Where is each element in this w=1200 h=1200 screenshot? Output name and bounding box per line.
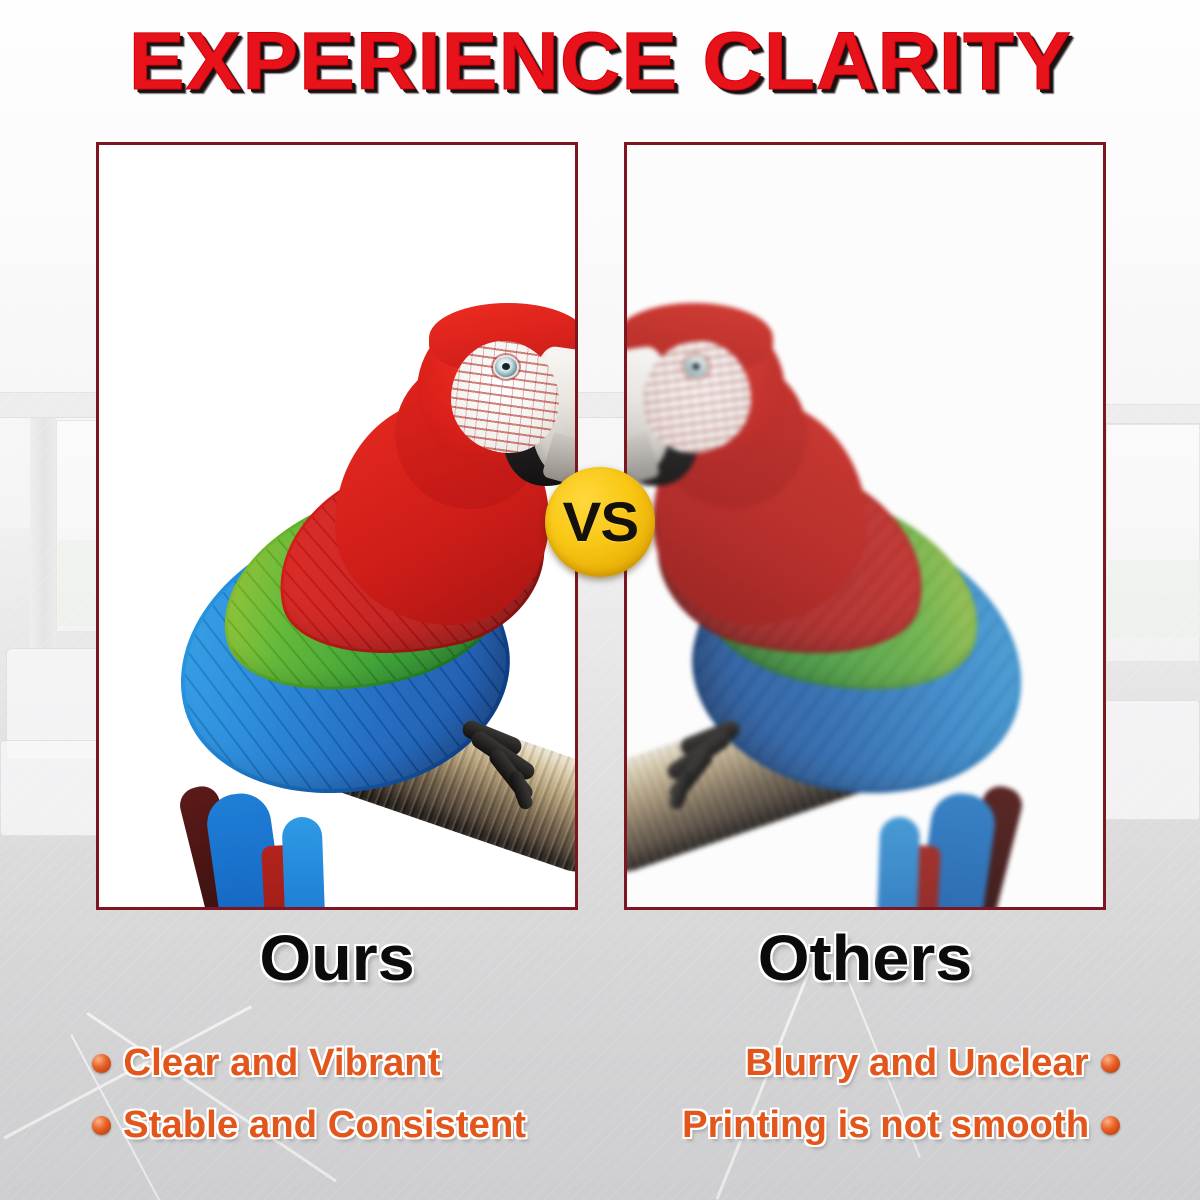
list-item: Clear and Vibrant bbox=[92, 1032, 592, 1094]
macaw-foot bbox=[655, 727, 745, 813]
list-item-label: Blurry and Unclear bbox=[745, 1041, 1088, 1085]
versus-badge: VS bbox=[545, 467, 655, 577]
benefit-list-ours: Clear and Vibrant Stable and Consistent bbox=[92, 1032, 592, 1156]
macaw-tail-blue-two bbox=[874, 816, 921, 910]
bullet-dot-icon bbox=[92, 1116, 111, 1135]
panel-caption-others: Others bbox=[614, 924, 1115, 992]
list-item: Stable and Consistent bbox=[92, 1094, 592, 1156]
list-item: Blurry and Unclear bbox=[620, 1032, 1120, 1094]
comparison-panel-others bbox=[624, 142, 1106, 910]
list-item: Printing is not smooth bbox=[620, 1094, 1120, 1156]
bullet-dot-icon bbox=[92, 1054, 111, 1073]
panel-caption-ours: Ours bbox=[86, 924, 587, 992]
bullet-dot-icon bbox=[1101, 1054, 1120, 1073]
macaw-eye bbox=[495, 357, 517, 377]
bullet-dot-icon bbox=[1101, 1116, 1120, 1135]
list-item-label: Stable and Consistent bbox=[123, 1103, 526, 1147]
macaw-eye bbox=[685, 357, 707, 377]
macaw-foot bbox=[457, 727, 547, 813]
comparison-panel-ours bbox=[96, 142, 578, 910]
drawback-list-others: Blurry and Unclear Printing is not smoot… bbox=[620, 1032, 1120, 1156]
list-item-label: Printing is not smooth bbox=[682, 1103, 1089, 1147]
product-image-ours bbox=[99, 145, 575, 907]
macaw-tail-blue-two bbox=[282, 816, 329, 910]
product-image-others bbox=[627, 145, 1103, 907]
page-title: EXPERIENCE CLARITY bbox=[0, 16, 1200, 108]
list-item-label: Clear and Vibrant bbox=[123, 1041, 440, 1085]
versus-badge-label: VS bbox=[562, 494, 638, 550]
page-title-text: EXPERIENCE CLARITY bbox=[128, 16, 1071, 108]
